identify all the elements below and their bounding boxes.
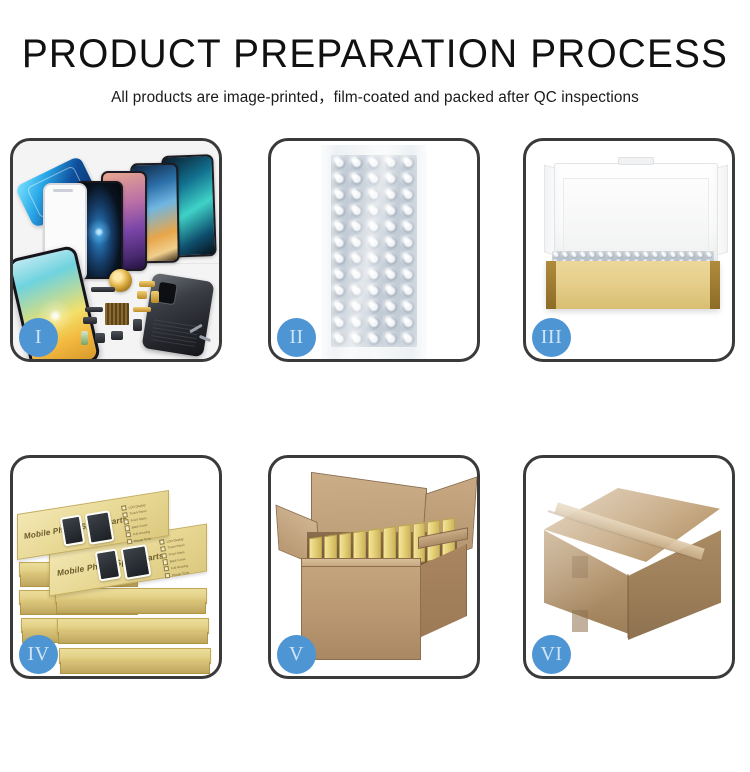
spare-part-sensor	[81, 331, 88, 345]
process-row-top: I II III	[10, 138, 740, 366]
checkbox-icon	[160, 546, 166, 552]
checkbox-icon	[125, 532, 131, 538]
carton-patch-lower	[572, 610, 588, 632]
badge-step-1: I	[19, 318, 58, 357]
process-row-bottom: Mobile Phone Spare Parts LCD Display Tou…	[10, 455, 740, 683]
yellow-box-tray	[546, 261, 720, 309]
spare-part-speaker	[133, 319, 142, 331]
badge-step-5: V	[277, 635, 316, 674]
spare-part-vibrator	[95, 333, 105, 343]
carton-patch-upper	[572, 556, 588, 578]
spare-part-camera-flex	[85, 307, 103, 312]
process-step-grid: I II III	[10, 138, 740, 772]
carton-vertical-edge	[627, 574, 629, 638]
process-step-panel-1[interactable]: I	[10, 138, 222, 362]
checkbox-icon	[123, 519, 129, 525]
box-tray-end-left	[546, 261, 556, 309]
box-artwork-phone-left	[95, 548, 122, 581]
box-artwork-phone-right	[121, 544, 152, 580]
spare-part-flex-gold	[139, 281, 155, 287]
process-step-panel-3[interactable]: III	[523, 138, 735, 362]
box-artwork-phone-right	[85, 510, 115, 545]
process-step-panel-5[interactable]: V	[268, 455, 480, 679]
badge-step-6: VI	[532, 635, 571, 674]
checkbox-icon	[165, 573, 171, 579]
process-step-panel-6[interactable]: VI	[523, 455, 735, 679]
spare-part-button	[111, 331, 123, 340]
process-step-panel-4[interactable]: Mobile Phone Spare Parts LCD Display Tou…	[10, 455, 222, 679]
carton-front-panel	[301, 566, 421, 660]
spare-part-screw-plate	[151, 291, 159, 303]
badge-step-3: III	[532, 318, 571, 357]
spare-part-connector	[91, 287, 115, 292]
stacked-box	[59, 648, 211, 664]
box-artwork-phone-left	[60, 514, 85, 546]
checkbox-icon	[161, 553, 167, 559]
checkbox-icon	[121, 505, 127, 511]
checkbox-icon	[163, 566, 169, 572]
page-subtitle: All products are image-printed，film-coat…	[0, 75, 750, 107]
process-step-panel-2[interactable]: II	[268, 138, 480, 362]
checkbox-icon	[124, 525, 130, 531]
checkbox-icon	[122, 512, 128, 518]
box-lid-tab	[618, 157, 654, 165]
checkbox-icon	[127, 539, 133, 545]
badge-step-2: II	[277, 318, 316, 357]
spare-part-chip	[105, 303, 129, 325]
spare-part-ribbon-gold	[133, 307, 151, 312]
spare-part-bracket-gold	[137, 291, 147, 299]
bubble-wrap-texture	[331, 155, 417, 347]
badge-step-4: IV	[19, 635, 58, 674]
stacked-box	[57, 618, 209, 634]
checkbox-icon	[159, 539, 165, 545]
box-tray-end-right	[710, 261, 720, 309]
spare-part-module	[83, 317, 97, 324]
checkbox-icon	[162, 559, 168, 565]
header: PRODUCT PREPARATION PROCESS All products…	[0, 0, 750, 107]
page-title: PRODUCT PREPARATION PROCESS	[11, 0, 739, 75]
